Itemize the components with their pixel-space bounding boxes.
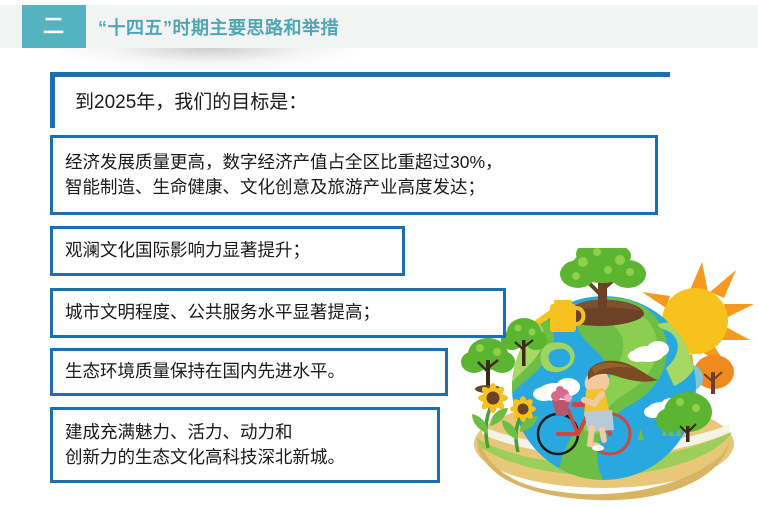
eco-earth-illustration xyxy=(452,248,758,508)
goal-item-text-4: 生态环境质量保持在国内先进水平。 xyxy=(53,359,355,384)
goal-item-text-2: 观澜文化国际影响力显著提升； xyxy=(53,238,320,263)
globe-ocean xyxy=(512,296,696,480)
header-shadow xyxy=(60,48,360,70)
goal-item-box-4: 生态环境质量保持在国内先进水平。 xyxy=(50,348,448,396)
sunflower-icon-1 xyxy=(472,383,508,448)
island-path xyxy=(482,424,730,456)
goal-title-text: 到2025年，我们的目标是： xyxy=(55,89,317,117)
island-underside xyxy=(478,438,730,500)
island-grass xyxy=(476,432,732,476)
goal-item-box-1: 经济发展质量更高，数字经济产值占全区比重超过30%， 智能制造、生命健康、文化创… xyxy=(50,135,658,215)
cloud-icon xyxy=(533,341,681,418)
page-title: “十四五”时期主要思路和举措 xyxy=(98,5,339,48)
eco-earth-svg xyxy=(452,248,758,508)
girl-on-bicycle-icon xyxy=(538,361,658,454)
watering-can-icon xyxy=(522,300,584,332)
header-section-number: 二 xyxy=(43,16,65,37)
sun-icon xyxy=(638,262,754,382)
bush-icon xyxy=(656,392,712,442)
island-ground xyxy=(474,400,734,488)
goal-item-text-3: 城市文明程度、公共服务水平显著提高； xyxy=(53,300,390,325)
goal-item-box-5: 建成充满魅力、活力、动力和 创新力的生态文化高科技深北新城。 xyxy=(50,407,440,483)
goal-item-text-5: 建成充满魅力、活力、动力和 创新力的生态文化高科技深北新城。 xyxy=(53,420,355,471)
slide-root: 二 “十四五”时期主要思路和举措 xyxy=(0,0,758,508)
goal-item-box-2: 观澜文化国际影响力显著提升； xyxy=(50,226,405,276)
goal-item-box-3: 城市文明程度、公共服务水平显著提高； xyxy=(50,288,506,338)
goal-title-box-top-accent xyxy=(50,72,478,77)
autumn-tree-icon xyxy=(694,355,734,394)
grass-tuft-icon xyxy=(638,422,681,440)
header-section-number-box: 二 xyxy=(22,5,86,48)
left-tree-icon-1 xyxy=(461,338,515,393)
tree-on-globe-icon xyxy=(560,248,646,326)
blue-tree-icon xyxy=(673,364,703,396)
sunflower-icon-2 xyxy=(502,396,538,452)
goal-item-text-1: 经济发展质量更高，数字经济产值占全区比重超过30%， 智能制造、生命健康、文化创… xyxy=(53,150,513,201)
left-tree-icon-2 xyxy=(501,318,547,366)
goal-title-box: 到2025年，我们的目标是： xyxy=(50,72,670,128)
